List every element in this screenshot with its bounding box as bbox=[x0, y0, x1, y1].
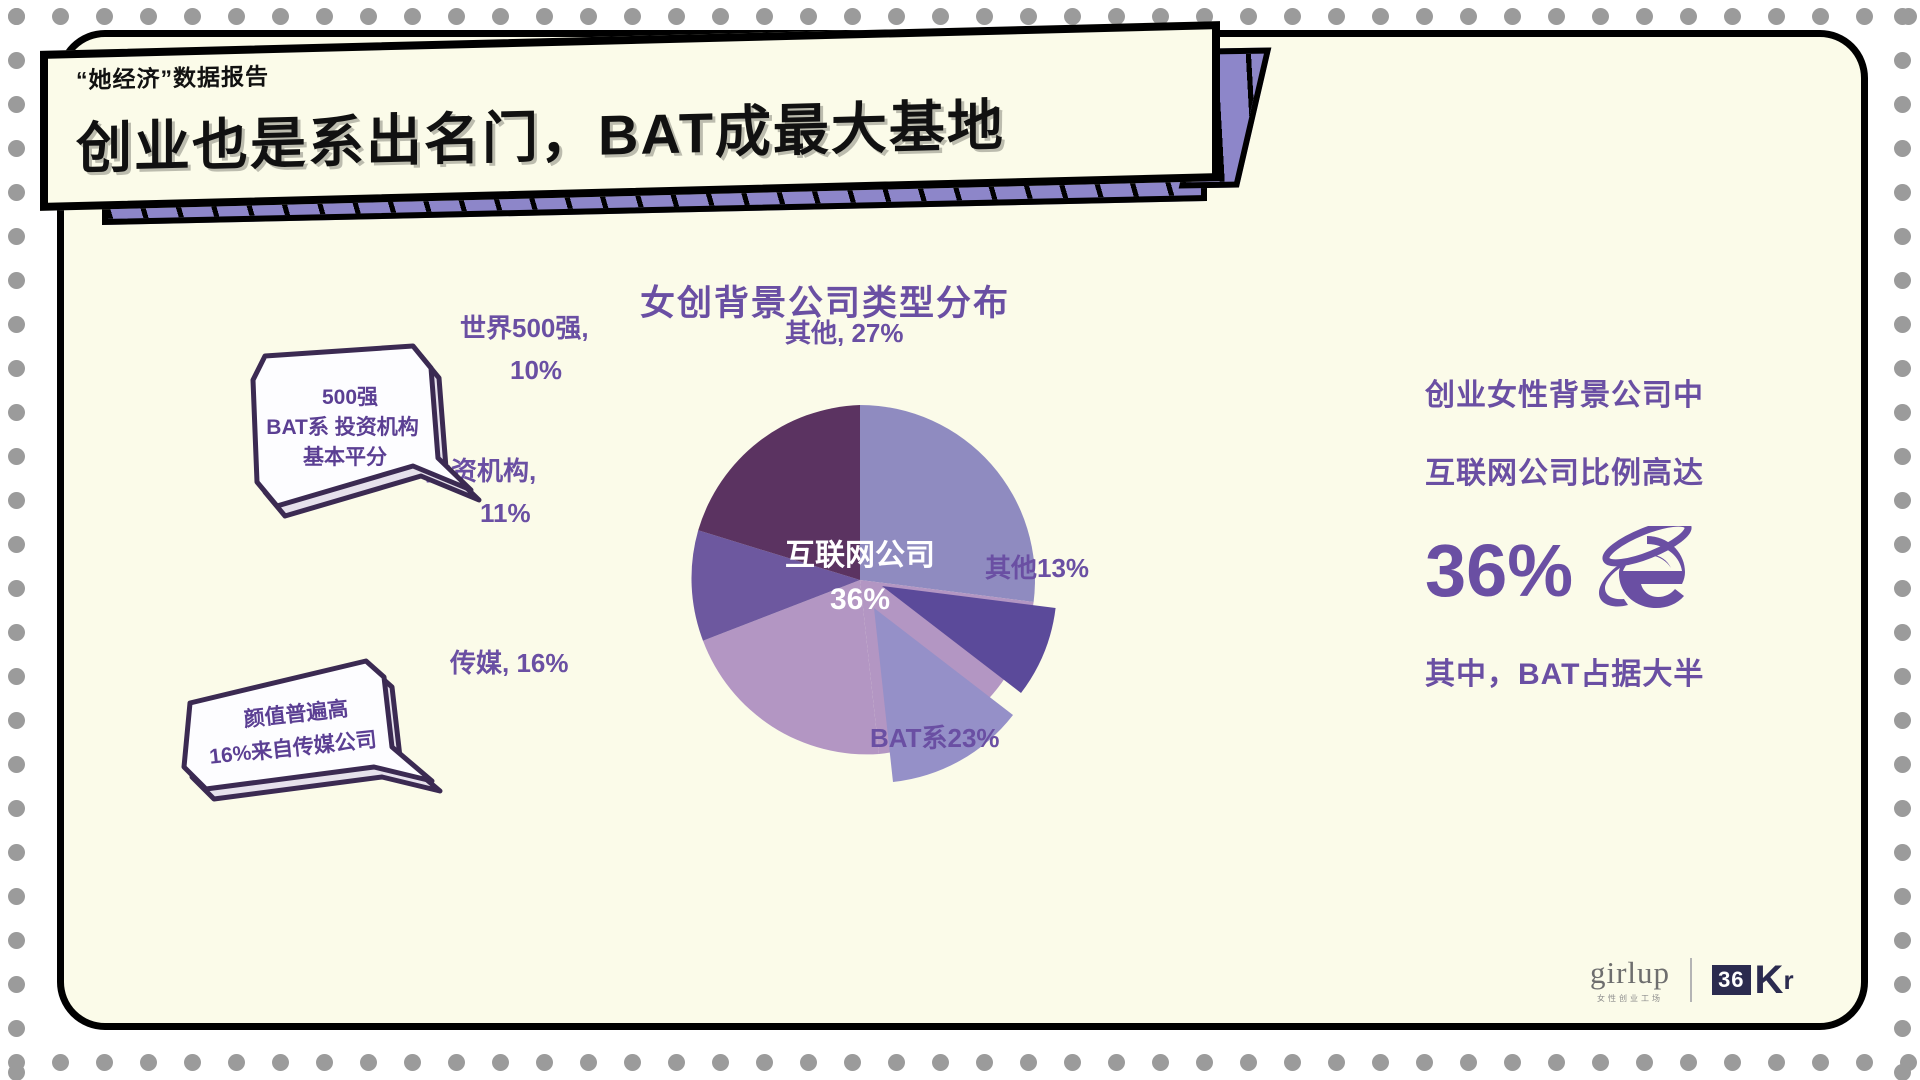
border-dot bbox=[1372, 1054, 1389, 1071]
border-dot bbox=[1894, 624, 1911, 641]
border-dot bbox=[140, 1054, 157, 1071]
border-dot bbox=[1894, 96, 1911, 113]
border-dot bbox=[668, 1054, 685, 1071]
border-dot bbox=[1592, 1054, 1609, 1071]
border-dot bbox=[1416, 1054, 1433, 1071]
border-dot bbox=[360, 1054, 377, 1071]
border-dot bbox=[976, 1054, 993, 1071]
border-dot bbox=[1894, 800, 1911, 817]
border-dot bbox=[8, 492, 25, 509]
border-dot bbox=[1812, 1054, 1829, 1071]
right-annotation-panel: 创业女性背景公司中 互联网公司比例高达 36% 其中，BAT占据大半 bbox=[1425, 370, 1805, 693]
right-panel-line1: 创业女性背景公司中 bbox=[1425, 370, 1805, 414]
girlup-logo-name: girlup bbox=[1590, 955, 1670, 991]
callout-bubble-top-line3: 基本平分 bbox=[265, 442, 425, 474]
girlup-logo-tagline: 女性创业工场 bbox=[1590, 993, 1670, 1004]
border-dot bbox=[1856, 8, 1873, 25]
callout-bubble-top-line2: BAT系 投资机构 bbox=[245, 412, 440, 444]
border-dot bbox=[1894, 52, 1911, 69]
border-dot bbox=[1680, 1054, 1697, 1071]
border-dot bbox=[1894, 712, 1911, 729]
border-dot bbox=[1894, 272, 1911, 289]
border-dot bbox=[8, 96, 25, 113]
border-dot bbox=[1064, 1054, 1081, 1071]
pie-chart-svg bbox=[600, 380, 1160, 900]
border-dot bbox=[448, 1054, 465, 1071]
border-dot bbox=[1812, 8, 1829, 25]
border-dot bbox=[8, 8, 25, 25]
border-dot bbox=[8, 1064, 25, 1080]
border-dot bbox=[228, 1054, 245, 1071]
border-dot bbox=[800, 1054, 817, 1071]
pie-label-fortune500-pct: 10% bbox=[510, 352, 562, 390]
border-dot bbox=[8, 448, 25, 465]
border-dot bbox=[1284, 8, 1301, 25]
border-dot bbox=[932, 1054, 949, 1071]
border-dot bbox=[1894, 536, 1911, 553]
36kr-logo: 36 K r bbox=[1712, 960, 1794, 1000]
border-dot bbox=[1894, 756, 1911, 773]
border-dot bbox=[1196, 1054, 1213, 1071]
border-dot bbox=[1894, 404, 1911, 421]
border-dot bbox=[8, 52, 25, 69]
border-dot bbox=[1894, 140, 1911, 157]
border-dot bbox=[1894, 184, 1911, 201]
border-dot bbox=[1680, 8, 1697, 25]
border-dot bbox=[1504, 1054, 1521, 1071]
girlup-logo: girlup 女性创业工场 bbox=[1590, 955, 1670, 1004]
border-dot bbox=[316, 1054, 333, 1071]
border-dot bbox=[1894, 492, 1911, 509]
border-dot bbox=[1460, 1054, 1477, 1071]
border-dot bbox=[1724, 8, 1741, 25]
border-dot bbox=[8, 360, 25, 377]
border-dot bbox=[8, 228, 25, 245]
border-dot bbox=[272, 1054, 289, 1071]
right-panel-big-number: 36% bbox=[1425, 534, 1573, 608]
callout-bubble-top-line1: 500强 bbox=[270, 382, 430, 414]
36kr-logo-r: r bbox=[1783, 967, 1793, 993]
callout-bubble-top: 500强 BAT系 投资机构 基本平分 bbox=[235, 340, 505, 525]
border-dot bbox=[96, 1054, 113, 1071]
border-dot bbox=[756, 1054, 773, 1071]
right-panel-line3: 其中，BAT占据大半 bbox=[1425, 649, 1805, 693]
border-dot bbox=[1328, 8, 1345, 25]
border-dot bbox=[404, 1054, 421, 1071]
pie-chart: 其他, 27% 世界500强, 10% 投资机构, 11% 传媒, 16% 其他… bbox=[600, 380, 1160, 900]
border-dot bbox=[8, 184, 25, 201]
36kr-logo-36: 36 bbox=[1712, 965, 1750, 995]
border-dot bbox=[1548, 1054, 1565, 1071]
border-dot bbox=[8, 140, 25, 157]
border-dot bbox=[1460, 8, 1477, 25]
right-panel-line2: 互联网公司比例高达 bbox=[1425, 448, 1805, 492]
border-dot bbox=[8, 756, 25, 773]
border-dot bbox=[1894, 448, 1911, 465]
chart-title: 女创背景公司类型分布 bbox=[640, 275, 1010, 326]
36kr-logo-k: K bbox=[1755, 960, 1784, 1000]
pie-center-label-name: 互联网公司 bbox=[710, 535, 1010, 577]
border-dot bbox=[1894, 8, 1911, 25]
border-dot bbox=[1856, 1054, 1873, 1071]
border-dot bbox=[1894, 228, 1911, 245]
footer-divider bbox=[1690, 958, 1692, 1002]
border-dot bbox=[1768, 8, 1785, 25]
border-dot bbox=[8, 844, 25, 861]
border-dot bbox=[8, 536, 25, 553]
border-dot bbox=[1636, 1054, 1653, 1071]
border-dot bbox=[844, 1054, 861, 1071]
border-dot bbox=[1548, 8, 1565, 25]
border-dot bbox=[1152, 1054, 1169, 1071]
border-dot bbox=[1724, 1054, 1741, 1071]
border-dot bbox=[1894, 580, 1911, 597]
border-dot bbox=[8, 404, 25, 421]
border-dot bbox=[1894, 844, 1911, 861]
border-dot bbox=[8, 976, 25, 993]
border-dot bbox=[8, 316, 25, 333]
border-dot bbox=[1108, 1054, 1125, 1071]
pie-center-label-pct: 36% bbox=[710, 579, 1010, 621]
border-dot bbox=[8, 712, 25, 729]
border-dot bbox=[1894, 668, 1911, 685]
border-dot bbox=[1284, 1054, 1301, 1071]
border-dot bbox=[1328, 1054, 1345, 1071]
border-dot bbox=[1894, 888, 1911, 905]
border-dot bbox=[8, 800, 25, 817]
pie-label-subslice-bat23: BAT系23% bbox=[870, 720, 1000, 758]
callout-bubble-bottom: 颜值普遍高 16%来自传媒公司 bbox=[178, 655, 468, 810]
border-dot bbox=[1504, 8, 1521, 25]
border-dot bbox=[888, 1054, 905, 1071]
border-dot bbox=[184, 1054, 201, 1071]
header-banner: “她经济”数据报告 创业也是系出名门，BAT成最大基地 bbox=[40, 18, 1250, 228]
banner-text-group: “她经济”数据报告 创业也是系出名门，BAT成最大基地 bbox=[40, 21, 1220, 211]
border-dot bbox=[8, 1020, 25, 1037]
border-dot bbox=[580, 1054, 597, 1071]
border-dot bbox=[8, 668, 25, 685]
border-dot bbox=[1240, 1054, 1257, 1071]
border-dot bbox=[1894, 316, 1911, 333]
border-dot bbox=[1894, 976, 1911, 993]
border-dot bbox=[712, 1054, 729, 1071]
border-dot bbox=[8, 624, 25, 641]
border-dot bbox=[1894, 1020, 1911, 1037]
border-dot bbox=[1768, 1054, 1785, 1071]
border-dot bbox=[1416, 8, 1433, 25]
border-dot bbox=[8, 932, 25, 949]
border-dot bbox=[52, 1054, 69, 1071]
border-dot bbox=[1894, 360, 1911, 377]
footer-logos: girlup 女性创业工场 36 K r bbox=[1590, 955, 1794, 1004]
border-dot bbox=[8, 272, 25, 289]
border-dot bbox=[536, 1054, 553, 1071]
border-dot bbox=[8, 888, 25, 905]
border-dot bbox=[492, 1054, 509, 1071]
border-dot bbox=[1636, 8, 1653, 25]
border-dot bbox=[1372, 8, 1389, 25]
border-dot bbox=[8, 580, 25, 597]
internet-explorer-logo-icon bbox=[1595, 526, 1699, 615]
border-dot bbox=[1592, 8, 1609, 25]
border-dot bbox=[1020, 1054, 1037, 1071]
right-panel-highlight-row: 36% bbox=[1425, 526, 1805, 615]
border-dot bbox=[1894, 1064, 1911, 1080]
border-dot bbox=[1894, 932, 1911, 949]
border-dot bbox=[624, 1054, 641, 1071]
